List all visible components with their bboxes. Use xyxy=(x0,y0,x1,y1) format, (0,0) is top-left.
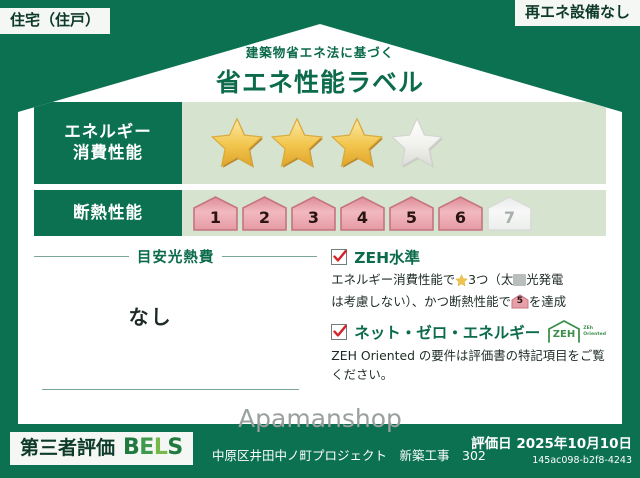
insulation-label-text: 断熱性能 xyxy=(73,203,143,224)
star-empty-icon xyxy=(388,115,446,171)
inline-star-icon xyxy=(455,274,468,293)
star-filled-icon xyxy=(268,115,326,171)
insulation-level-scale: 1234567 xyxy=(192,195,533,232)
insulation-badge-number: 3 xyxy=(308,208,319,232)
bels-letter-b: B xyxy=(123,435,139,460)
details-section: 目安光熱費 なし xyxy=(34,240,606,408)
energy-performance-label: エネルギー 消費性能 xyxy=(34,102,182,184)
inline-insulation-badge: 5 xyxy=(511,294,529,309)
zeh-logo-sub-line1: ZEh xyxy=(583,326,593,331)
renewable-equipment-tag: 再エネ設備なし xyxy=(515,0,640,26)
utility-cost-heading-text: 目安光熱費 xyxy=(137,246,215,267)
insulation-badge-filled: 2 xyxy=(241,195,288,232)
zeh-standard-header: ZEH水準 xyxy=(331,246,606,268)
inline-badge-number: 5 xyxy=(511,295,529,309)
rule-left xyxy=(34,256,129,257)
building-type-tag: 住宅（住戸） xyxy=(0,8,110,34)
svg-text:ZEH: ZEH xyxy=(553,329,575,340)
star-rating xyxy=(208,115,446,171)
insulation-badge-number: 2 xyxy=(259,208,270,232)
zeh-body-part5: を達成 xyxy=(529,294,566,309)
insulation-badge-number: 4 xyxy=(357,208,368,232)
insulation-badge-filled: 6 xyxy=(437,195,484,232)
net-zero-energy-title: ネット・ゼロ・エネルギー xyxy=(354,321,540,343)
utility-cost-underline xyxy=(42,389,299,390)
bels-logo-text: BELS xyxy=(123,437,183,459)
zeh-body-part3: 光発電 xyxy=(526,272,563,287)
evaluation-info: 評価日 2025年10月10日 145ac098-b2f8-4243 xyxy=(471,432,632,466)
energy-performance-value xyxy=(182,102,606,184)
insulation-badge-number: 1 xyxy=(210,208,221,232)
insulation-badge-filled: 1 xyxy=(192,195,239,232)
energy-performance-row: エネルギー 消費性能 xyxy=(34,102,606,184)
zeh-body-part1: エネルギー消費性能で xyxy=(331,272,455,287)
net-zero-energy-body: ZEH Oriented の要件は評価書の特記項目をご覧ください。 xyxy=(331,347,606,384)
zeh-column: ZEH水準 エネルギー消費性能で 3つ（太光発電 は考慮しない）、かつ断熱性能で xyxy=(317,240,606,408)
insulation-performance-row: 断熱性能 1234567 xyxy=(34,190,606,236)
zeh-standard-block: ZEH水準 エネルギー消費性能で 3つ（太光発電 は考慮しない）、かつ断熱性能で xyxy=(331,246,606,311)
insulation-badge-number: 5 xyxy=(406,208,417,232)
energy-label-line1: エネルギー xyxy=(64,122,152,143)
zeh-body-part2: 3つ（太 xyxy=(468,272,513,287)
zeh-standard-body: エネルギー消費性能で 3つ（太光発電 は考慮しない）、かつ断熱性能で 5 xyxy=(331,271,606,311)
utility-cost-column: 目安光熱費 なし xyxy=(34,240,317,408)
utility-cost-heading: 目安光熱費 xyxy=(34,246,317,267)
zeh-logo-subtext: ZEh Oriented xyxy=(583,326,606,337)
insulation-badge-filled: 5 xyxy=(388,195,435,232)
performance-panel: エネルギー 消費性能 断熱性能 1234567 xyxy=(34,102,606,408)
checkbox-checked-icon xyxy=(331,249,347,265)
bels-letter-e: E xyxy=(139,435,154,460)
evaluation-date: 評価日 2025年10月10日 xyxy=(471,432,632,452)
insulation-badge-number: 6 xyxy=(455,208,466,232)
label-title: 建築物省エネ法に基づく 省エネ性能ラベル xyxy=(18,42,622,99)
label-card: 建築物省エネ法に基づく 省エネ性能ラベル エネルギー 消費性能 断熱性能 xyxy=(18,24,622,424)
insulation-badge-number: 7 xyxy=(504,208,515,232)
bels-letter-s: S xyxy=(167,435,182,460)
star-filled-icon xyxy=(328,115,386,171)
net-zero-energy-header: ネット・ゼロ・エネルギー ZEH ZEh Oriented xyxy=(331,319,606,344)
insulation-performance-value: 1234567 xyxy=(182,190,606,236)
energy-label-line2: 消費性能 xyxy=(73,143,143,164)
title-subtitle: 建築物省エネ法に基づく xyxy=(18,42,622,61)
bels-certification-mark: 第三者評価 BELS xyxy=(10,432,193,465)
zeh-logo-sub-line2: Oriented xyxy=(583,332,606,337)
redacted-character xyxy=(513,274,526,286)
utility-cost-value: なし xyxy=(34,301,317,330)
footer-bar: 第三者評価 BELS 中原区井田中ノ町プロジェクト 新築工事 302 評価日 2… xyxy=(0,424,640,478)
insulation-badge-filled: 4 xyxy=(339,195,386,232)
third-party-evaluation-text: 第三者評価 xyxy=(20,439,115,458)
zeh-body-part4: は考慮しない）、かつ断熱性能で xyxy=(331,294,511,309)
rule-right xyxy=(222,256,317,257)
insulation-performance-label: 断熱性能 xyxy=(34,190,182,236)
evaluation-id: 145ac098-b2f8-4243 xyxy=(471,455,632,466)
project-name: 中原区井田中ノ町プロジェクト 新築工事 302 xyxy=(212,445,486,464)
bels-energy-label: 住宅（住戸） 再エネ設備なし 建築物省エネ法に基づく 省エネ性能ラベル エネルギ… xyxy=(0,0,640,478)
checkbox-checked-icon xyxy=(331,324,347,340)
zeh-standard-title: ZEH水準 xyxy=(354,246,420,268)
net-zero-energy-block: ネット・ゼロ・エネルギー ZEH ZEh Oriented xyxy=(331,319,606,384)
title-main: 省エネ性能ラベル xyxy=(18,63,622,99)
zeh-oriented-logo-icon: ZEH ZEh Oriented xyxy=(547,319,606,344)
bels-letter-l: L xyxy=(154,435,168,460)
star-filled-icon xyxy=(208,115,266,171)
insulation-badge-filled: 3 xyxy=(290,195,337,232)
insulation-badge-empty: 7 xyxy=(486,195,533,232)
